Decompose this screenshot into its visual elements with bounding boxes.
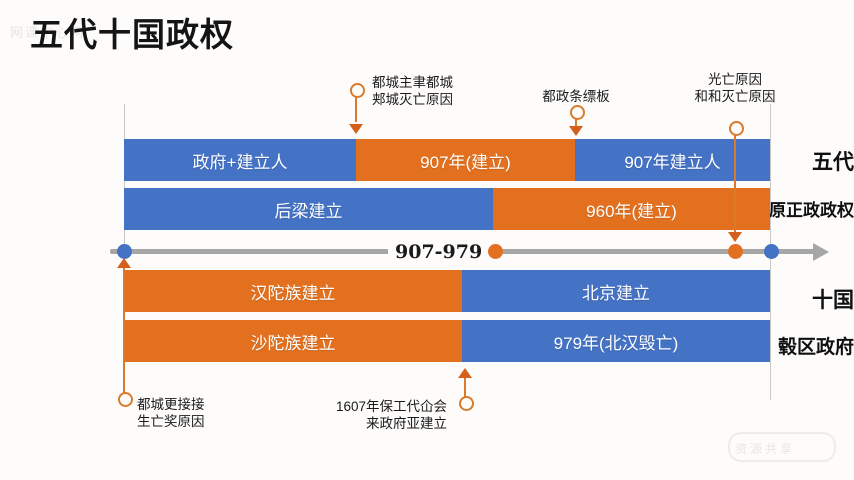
- callout-top-1-line2: 郏城灭亡原因: [372, 91, 453, 108]
- segment-row3-a[interactable]: 汉陀族建立: [124, 270, 462, 312]
- callout-bottom-2-line2: 来政府亚建立: [289, 415, 447, 432]
- timeline-row-2: 后梁建立 960年(建立): [124, 188, 770, 230]
- segment-row2-b[interactable]: 960年(建立): [493, 188, 770, 230]
- timeline-row-3: 汉陀族建立 北京建立: [124, 270, 770, 312]
- segment-row3-b[interactable]: 北京建立: [462, 270, 770, 312]
- callout-bottom-1-line2: 生亡奖原因: [137, 413, 205, 430]
- segment-row1-a[interactable]: 政府+建立人: [124, 139, 356, 181]
- callout-top-3-arrow-icon: [728, 232, 742, 242]
- axis-marker-mid[interactable]: [488, 244, 503, 259]
- page-title: 五代十国政权: [30, 8, 234, 56]
- timeline-axis-label: 907-979: [388, 241, 489, 263]
- timeline-row-4: 沙陀族建立 979年(北汉毁亡): [124, 320, 770, 362]
- callout-bottom-2-line1: 1607年保工代仚会: [289, 398, 447, 415]
- axis-marker-end[interactable]: [764, 244, 779, 259]
- callout-bottom-1-ring: [118, 392, 133, 407]
- watermark-right: 资源共享: [735, 440, 795, 457]
- segment-row4-a[interactable]: 沙陀族建立: [124, 320, 462, 362]
- axis-marker-late[interactable]: [728, 244, 743, 259]
- callout-bottom-1-arrow-icon: [117, 258, 131, 268]
- callout-top-2-ring: [570, 105, 585, 120]
- segment-row2-a[interactable]: 后梁建立: [124, 188, 493, 230]
- callout-bottom-1-line1: 都城更接接: [137, 396, 205, 413]
- callout-top-2-line1: 都政条缥板: [531, 88, 621, 105]
- segment-row1-b[interactable]: 907年(建立): [356, 139, 575, 181]
- callout-bottom-1-stem: [123, 268, 125, 396]
- callout-top-1-ring: [350, 83, 365, 98]
- callout-top-1-line1: 都城主聿都城: [372, 74, 453, 91]
- timeline-axis-arrowhead: [813, 243, 829, 261]
- callout-top-3-stem: [734, 128, 736, 234]
- segment-row4-b[interactable]: 979年(北汉毁亡): [462, 320, 770, 362]
- callout-top-1-arrow-icon: [349, 124, 363, 134]
- callout-top-3-line2: 和和灭亡原因: [675, 88, 795, 105]
- callout-top-3-line1: 光亡原因: [675, 71, 795, 88]
- slide-canvas: 网课中心网 资源共享 五代十国政权 五代 中原正政政权 十国 毂区政府 政府+建…: [0, 0, 854, 480]
- callout-bottom-2-ring: [459, 396, 474, 411]
- segment-row1-c[interactable]: 907年建立人: [575, 139, 770, 181]
- callout-bottom-2-arrow-icon: [458, 368, 472, 378]
- callout-top-3-ring: [729, 121, 744, 136]
- timeline-row-1: 政府+建立人 907年(建立) 907年建立人: [124, 139, 770, 181]
- axis-marker-start[interactable]: [117, 244, 132, 259]
- callout-top-2-arrow-icon: [569, 126, 583, 136]
